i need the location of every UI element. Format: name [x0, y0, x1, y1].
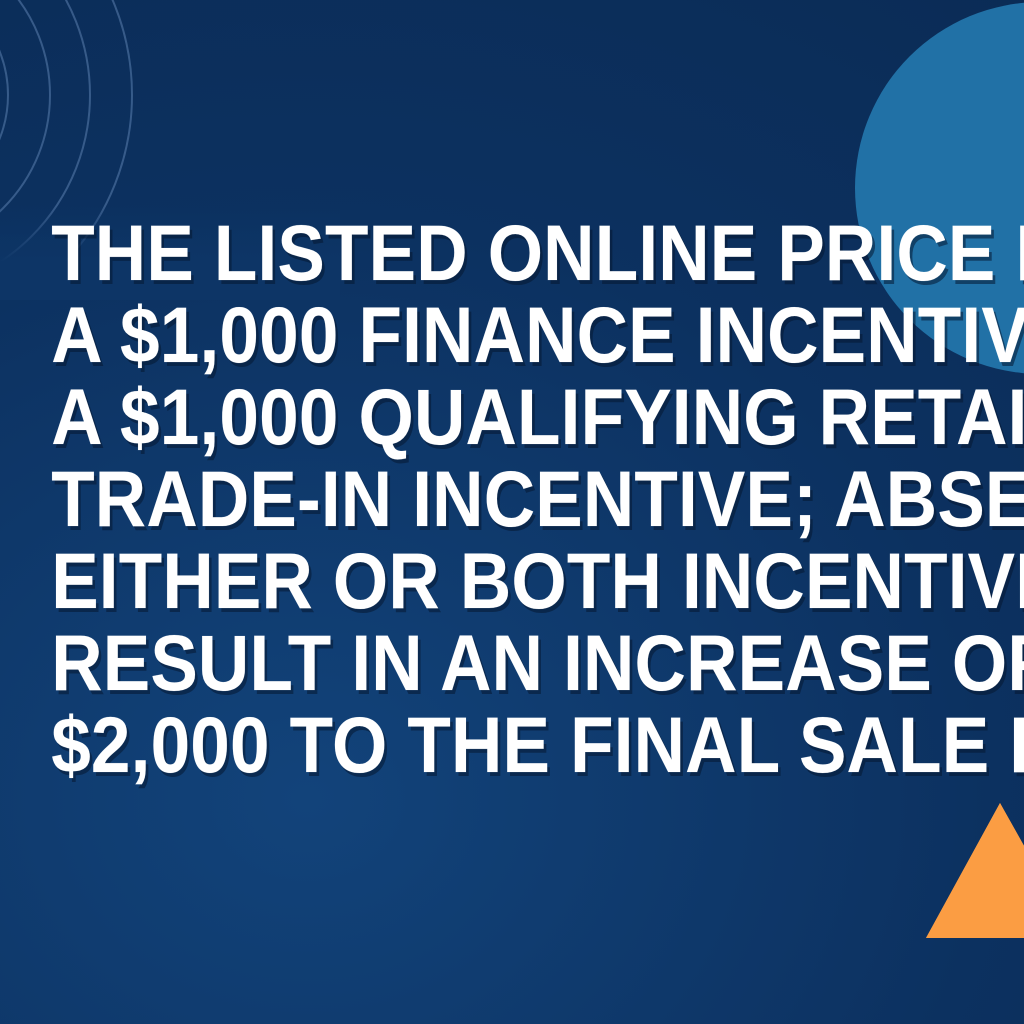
promo-disclaimer-canvas: THE LISTED ONLINE PRICE REFLECTS A $1,00…: [0, 0, 1024, 1024]
disclaimer-line-1: THE LISTED ONLINE PRICE REFLECTS: [51, 212, 973, 294]
disclaimer-line-5: EITHER OR BOTH INCENTIVES WILL: [51, 540, 973, 622]
disclaimer-line-6: RESULT IN AN INCREASE OF UP TO: [51, 622, 973, 704]
disclaimer-text: THE LISTED ONLINE PRICE REFLECTS A $1,00…: [0, 212, 1024, 786]
disclaimer-line-2: A $1,000 FINANCE INCENTIVE AND: [51, 294, 973, 376]
disclaimer-line-7: $2,000 TO THE FINAL SALE PRICE.: [51, 704, 973, 786]
disclaimer-line-4: TRADE-IN INCENTIVE; ABSENCE OF: [51, 458, 973, 540]
disclaimer-line-3: A $1,000 QUALIFYING RETAIL: [51, 376, 973, 458]
